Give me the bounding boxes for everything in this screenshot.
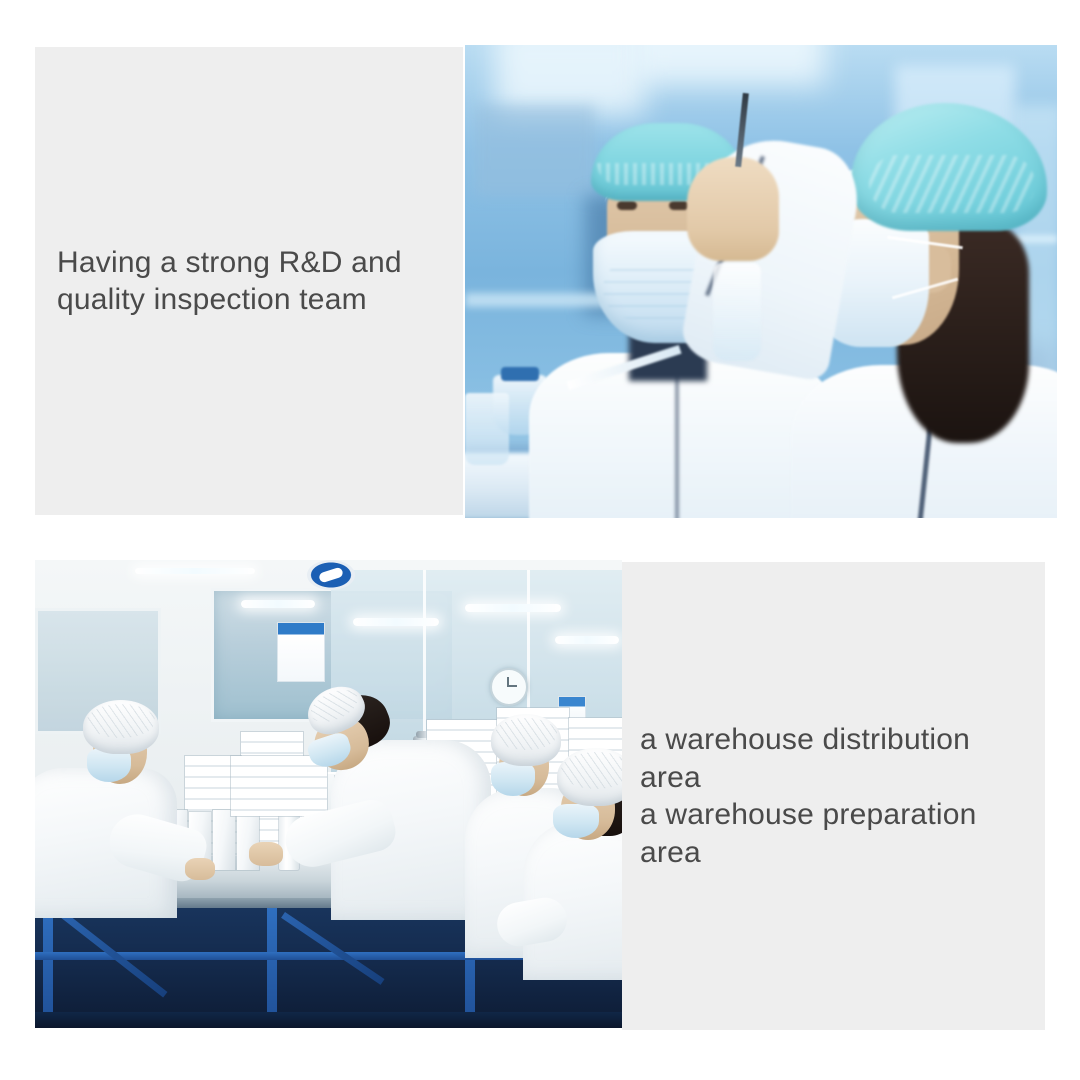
warehouse-packaging-photo xyxy=(35,560,622,1028)
ceiling-light-5 xyxy=(135,568,255,574)
row-warehouse: a warehouse distribution area a warehous… xyxy=(0,520,1080,1080)
worker-4-hairnet xyxy=(557,748,622,806)
lab-gloved-hand xyxy=(687,157,779,261)
caption-text-warehouse: a warehouse distribution area a warehous… xyxy=(640,721,1037,871)
caption-panel-rnd: Having a strong R&D and quality inspecti… xyxy=(35,47,463,515)
caption-panel-warehouse: a warehouse distribution area a warehous… xyxy=(622,562,1045,1030)
lab-quality-inspection-photo xyxy=(465,45,1057,518)
worker-2-hand xyxy=(249,842,283,866)
carton-flat-stack-1 xyxy=(231,756,327,816)
page-root: Having a strong R&D and quality inspecti… xyxy=(0,0,1080,1080)
lab-coat-seam-front xyxy=(675,359,679,518)
carton-row-6 xyxy=(213,810,235,870)
ceiling-light-2 xyxy=(353,618,439,626)
lab-flask-cap xyxy=(501,367,539,381)
worker-1-hand xyxy=(185,858,215,880)
floor-strip xyxy=(35,1012,622,1028)
lab-scene xyxy=(465,45,1057,518)
warehouse-worker-4 xyxy=(527,704,622,924)
table-leg-2 xyxy=(267,908,277,1028)
ceiling-light-3 xyxy=(465,604,561,612)
warehouse-worker-1 xyxy=(35,670,185,900)
table-leg-1 xyxy=(43,908,53,1028)
row-rnd-quality: Having a strong R&D and quality inspecti… xyxy=(0,0,1080,520)
ceiling-light-1 xyxy=(241,600,315,608)
lab-hair-cap-profile xyxy=(851,103,1047,231)
lab-sample-vial xyxy=(713,263,761,361)
blue-circular-sign-icon xyxy=(307,560,355,590)
caption-text-rnd: Having a strong R&D and quality inspecti… xyxy=(57,244,449,319)
warehouse-scene xyxy=(35,560,622,1028)
wall-poster-left xyxy=(277,622,325,682)
worker-1-hairnet xyxy=(83,700,159,754)
ceiling-light-4 xyxy=(555,636,619,644)
worker-4-mask xyxy=(553,804,599,838)
